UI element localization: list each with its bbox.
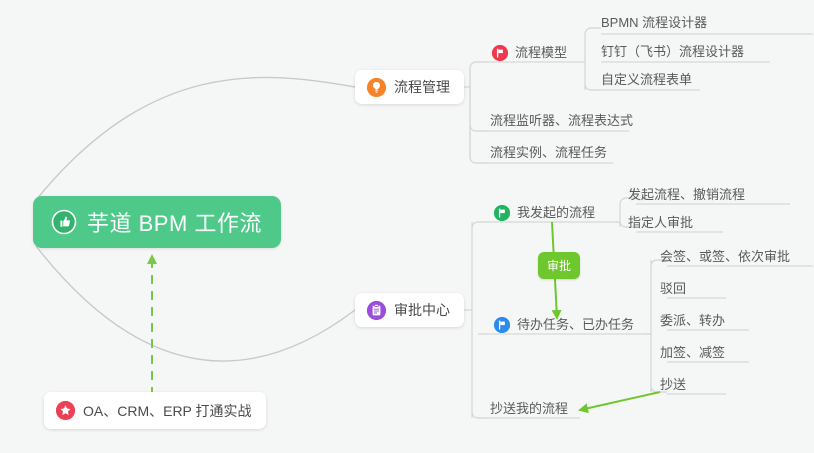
node-label-start-cancel: 发起流程、撤销流程 <box>628 185 745 205</box>
mindmap-canvas: 芋道 BPM 工作流 流程管理 流程模型 BPMN 流程设计器 钉钉（飞书）流 <box>0 0 814 453</box>
node-label-cc: 抄送 <box>660 375 686 395</box>
node-label-process-model: 流程模型 <box>515 43 567 63</box>
node-label-bpmn-designer: BPMN 流程设计器 <box>601 13 707 33</box>
branch-label-process-management: 流程管理 <box>394 77 450 97</box>
node-label-my-submitted: 我发起的流程 <box>517 203 595 223</box>
clipboard-icon <box>367 301 386 320</box>
flag-icon <box>494 317 510 333</box>
node-label-process-instance: 流程实例、流程任务 <box>490 143 607 163</box>
annotation-tag-approval[interactable]: 审批 <box>538 252 580 279</box>
star-icon <box>56 401 75 420</box>
node-addsign[interactable]: 加签、减签 <box>660 343 725 366</box>
annotation-tag-approval-label: 审批 <box>547 259 571 273</box>
node-label-countersign: 会签、或签、依次审批 <box>660 247 790 267</box>
callout-label-integration: OA、CRM、ERP 打通实战 <box>83 401 252 421</box>
wire-ac-to-cc <box>472 412 490 418</box>
branch-node-approval-center[interactable]: 审批中心 <box>355 293 464 327</box>
node-todo-done[interactable]: 待办任务、已办任务 <box>494 315 634 338</box>
node-label-reject: 驳回 <box>660 279 686 299</box>
node-cc[interactable]: 抄送 <box>660 375 686 398</box>
node-my-submitted[interactable]: 我发起的流程 <box>494 203 595 226</box>
node-delegate[interactable]: 委派、转办 <box>660 311 725 334</box>
node-countersign[interactable]: 会签、或签、依次审批 <box>660 247 790 270</box>
wire-pmodel-children <box>585 28 601 90</box>
node-process-listener[interactable]: 流程监听器、流程表达式 <box>490 111 633 134</box>
root-label: 芋道 BPM 工作流 <box>87 206 262 238</box>
node-reject[interactable]: 驳回 <box>660 279 686 302</box>
node-label-custom-form: 自定义流程表单 <box>601 70 692 90</box>
node-bpmn-designer[interactable]: BPMN 流程设计器 <box>601 13 707 36</box>
callout-node-integration[interactable]: OA、CRM、ERP 打通实战 <box>44 392 266 429</box>
wire-root-to-approval-center <box>36 246 355 361</box>
node-label-process-listener: 流程监听器、流程表达式 <box>490 111 633 131</box>
root-node[interactable]: 芋道 BPM 工作流 <box>33 196 281 248</box>
node-cc-to-me[interactable]: 抄送我的流程 <box>490 399 568 422</box>
node-label-delegate: 委派、转办 <box>660 311 725 331</box>
node-assignee-approve[interactable]: 指定人审批 <box>628 213 693 236</box>
node-label-addsign: 加签、减签 <box>660 343 725 363</box>
branch-node-process-management[interactable]: 流程管理 <box>355 70 464 104</box>
node-label-dingtalk-designer: 钉钉（飞书）流程设计器 <box>601 42 744 62</box>
flag-icon <box>492 45 508 61</box>
node-label-assignee-approve: 指定人审批 <box>628 213 693 233</box>
annotation-arrow-cc <box>580 392 660 410</box>
flag-icon <box>494 205 510 221</box>
node-custom-form[interactable]: 自定义流程表单 <box>601 70 692 93</box>
lightbulb-icon <box>367 78 386 97</box>
thumbs-up-icon <box>51 209 77 235</box>
node-label-todo-done: 待办任务、已办任务 <box>517 315 634 335</box>
wire-root-to-process-management <box>36 77 355 200</box>
node-dingtalk-designer[interactable]: 钉钉（飞书）流程设计器 <box>601 42 744 65</box>
wire-ac-to-mysubmitted <box>472 222 490 228</box>
wire-pm-spine <box>460 62 488 163</box>
node-process-model[interactable]: 流程模型 <box>492 43 567 66</box>
node-process-instance[interactable]: 流程实例、流程任务 <box>490 143 607 166</box>
node-start-cancel[interactable]: 发起流程、撤销流程 <box>628 185 745 208</box>
branch-label-approval-center: 审批中心 <box>394 300 450 320</box>
node-label-cc-to-me: 抄送我的流程 <box>490 399 568 419</box>
